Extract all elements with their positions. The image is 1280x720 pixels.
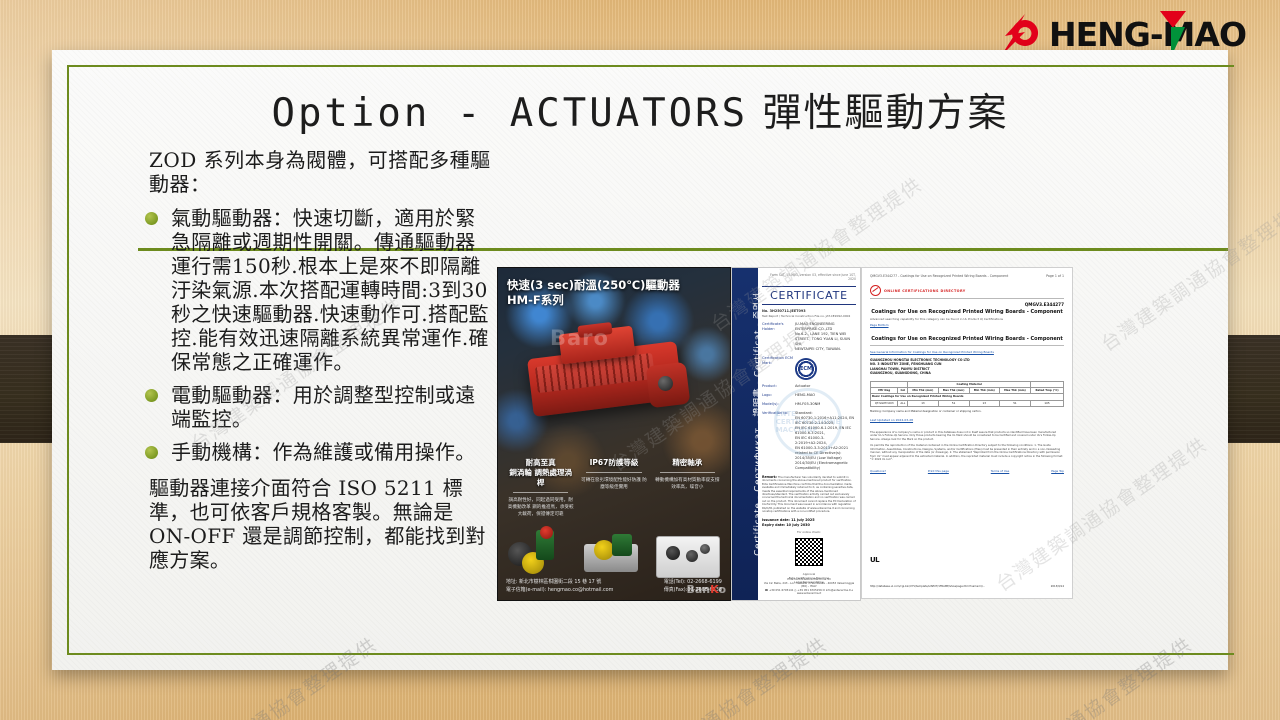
bullet-dot-icon xyxy=(145,389,158,402)
ul-terms-link[interactable]: Terms of Use xyxy=(991,469,1010,473)
logo-text: HENG-MAO xyxy=(1049,15,1246,54)
list-item: 手動機構：作為維護或備用操作。 xyxy=(141,440,493,464)
certificate-test-report-note: Test Report / Technical Construction Fil… xyxy=(762,314,856,318)
certificate-field-holder: Certificate's Holder: JU-MAO ENGINEERING… xyxy=(762,322,856,352)
title-chinese: 彈性驅動方案 xyxy=(763,91,1009,136)
feature-body: 可轉在惡劣環境配性能好防護 防塵等級佳實用 xyxy=(580,477,647,491)
ecm-certificate-document: Certificate - Сертификат - 證明書 - Certifi… xyxy=(731,267,861,601)
ul-certification-mark-icon: UL xyxy=(870,556,879,564)
ecm-seal-icon: ECM xyxy=(795,358,817,380)
bullet-list: 氣動驅動器：快速切斷，適用於緊急隔離或週期性開關。傳通驅動器運行需150秒.根本… xyxy=(141,206,493,464)
table-cell: 51 xyxy=(999,400,1030,406)
ul-directory-label: ONLINE CERTIFICATIONS DIRECTORY xyxy=(884,289,966,293)
feature-divider xyxy=(660,472,715,473)
bullet-dot-icon xyxy=(145,212,158,225)
table-cell: 13 xyxy=(969,400,999,406)
feature-divider xyxy=(586,472,641,473)
ul-source-url: http://database.ul.com/cgi-bin/XYV/templ… xyxy=(870,585,985,588)
poster-title: 快速(3 sec)耐溫(250℃)驅動器 HM-F系列 xyxy=(507,278,722,308)
green-board xyxy=(612,534,632,556)
table-cell: 51 xyxy=(938,400,969,406)
ul-print-date: 2013/9/14 xyxy=(1051,585,1064,588)
certificate-dates: Issuance date: 11 July 2025 Expiry date:… xyxy=(762,518,856,528)
feature-body: 調高耐性好，同起過同受用，耐高機動改革 鋼的推進馬，承受較大載荷，保證傳定可靠 xyxy=(507,497,574,518)
list-item-text: 手動機構：作為維護或備用操作。 xyxy=(171,440,476,464)
body-text-column: ZOD 系列本身為閥體，可搭配多種驅動器： 氣動驅動器：快速切斷，適用於緊急隔離… xyxy=(141,148,493,572)
list-item-text: 電動驅動器：用於調整型控制或遠端監控。 xyxy=(171,383,476,431)
list-item: 氣動驅動器：快速切斷，適用於緊急隔離或週期性開關。傳通驅動器運行需150秒.根本… xyxy=(141,206,493,374)
ul-certification-document: QMGV3.E344277 - Coatings for Use on Reco… xyxy=(861,267,1073,599)
list-item-text: 氣動驅動器：快速切斷，適用於緊急隔離或週期性開關。傳通驅動器運行需150秒.根本… xyxy=(171,206,489,374)
poster-title-line1: 快速(3 sec)耐溫(250℃)驅動器 xyxy=(507,278,722,293)
expiry-date: Expiry date: 10 July 2030 xyxy=(762,523,856,528)
poster-thumbnails xyxy=(506,520,722,582)
ul-disclaimer-paragraph: The appearance of a company's name or pr… xyxy=(870,431,1064,462)
table-row: QT-SILIHY-003 ALL 13 51 13 51 105 xyxy=(871,400,1064,406)
table-cell: ALL xyxy=(898,400,908,406)
field-value: ECM xyxy=(795,356,856,380)
poster-title-line2: HM-F系列 xyxy=(507,293,722,308)
ul-category-code: QMGV3.E344277 xyxy=(870,302,1064,307)
poster-watermark: Baro xyxy=(550,326,609,350)
poster-contact-address: 地址: 新北市樹林區柑園街二段 15 巷 17 號 電子信箱(e-mail): … xyxy=(506,579,613,594)
documents-row: 快速(3 sec)耐溫(250℃)驅動器 HM-F系列 Baro 耐高至真 銅渦… xyxy=(497,267,1073,601)
feature-item: IP67防護等級 可轉在惡劣環境配性能好防護 防塵等級佳實用 xyxy=(577,458,650,518)
ul-table-caption: Marking: Company name and Material desig… xyxy=(870,410,1064,414)
qr-code-icon xyxy=(795,538,823,566)
part-gear-icon xyxy=(666,546,680,560)
certificate-field-mark: Certification ECM Mark: ECM xyxy=(762,356,856,380)
field-label: Certification ECM Mark: xyxy=(762,356,795,380)
feature-heading: 銅渦輪 調熱處理渦桿 xyxy=(507,468,574,488)
table-cell: 13 xyxy=(908,400,938,406)
slide-stage: HENG-MAO Option - ACTUATORS 彈性驅動方案 ZOD 系… xyxy=(0,0,1280,720)
ul-search-note: Advanced searching capability for this c… xyxy=(870,317,1064,321)
ul-general-information-link[interactable]: See General Information for Coatings for… xyxy=(870,350,1064,354)
yellow-gear-icon xyxy=(594,540,614,560)
actuator-knob xyxy=(658,376,673,391)
ul-print-link[interactable]: Print this page xyxy=(928,469,949,473)
table-cell: 105 xyxy=(1031,400,1064,406)
list-item: 電動驅動器：用於調整型控制或遠端監控。 xyxy=(141,383,493,431)
thumbnail-parts-tray xyxy=(654,524,722,582)
field-label: Product: xyxy=(762,384,795,389)
ul-heading-secondary: Coatings for Use on Recognized Printed W… xyxy=(870,336,1064,346)
bullet-dot-icon xyxy=(145,446,158,459)
ul-questions-link[interactable]: Questions? xyxy=(870,469,886,473)
certificate-watermark-seal: ENTE CERTIFICAZIONE MACCHINE xyxy=(774,388,842,456)
title-english: Option - ACTUATORS xyxy=(271,91,748,136)
closing-paragraph: 驅動器連接介面符合 ISO 5211 標準，也可依客戶規格客製。無論是 ON-O… xyxy=(149,476,493,572)
ul-heading: Coatings for Use on Recognized Printed W… xyxy=(870,309,1064,315)
qr-label: For online check: xyxy=(762,530,856,534)
feature-heading-top: 耐高至真 xyxy=(507,458,574,468)
feature-item: 精密軸承 轉動機構加有高材質動率錠支撐 效率高，噪音小 xyxy=(651,458,724,518)
part-gear-icon xyxy=(686,550,698,562)
certificate-spine: Certificate - Сертификат - 證明書 - Certifi… xyxy=(732,268,758,600)
feature-item: 耐高至真 銅渦輪 調熱處理渦桿 調高耐性好，同起過同受用，耐高機動改革 鋼的推進… xyxy=(504,458,577,518)
ul-coating-table: Coating Material Mfr Dsg Col Min Thk (mm… xyxy=(870,381,1064,408)
feature-heading: 精密軸承 xyxy=(654,458,721,468)
ul-logo-icon xyxy=(870,285,881,296)
part-ring-icon xyxy=(700,544,710,554)
feature-heading: IP67防護等級 xyxy=(580,458,647,468)
ul-top-row: QMGV3.E344277 - Coatings for Use on Reco… xyxy=(870,274,1064,278)
remark-text: The manufacturer has voluntarily decided… xyxy=(762,476,856,513)
field-value: JU-MAO ENGINEERING ENTERPRISE CO.,LTD No… xyxy=(795,322,856,352)
ul-page-number: Page 1 of 1 xyxy=(1046,274,1064,278)
ul-last-updated-link[interactable]: Last Updated on 2024-03-28 xyxy=(870,418,1064,422)
ul-company-block: GUANGZHOU HONGTAI ELECTRONIC TECHNOLOGY … xyxy=(870,358,1064,376)
product-poster: 快速(3 sec)耐溫(250℃)驅動器 HM-F系列 Baro 耐高至真 銅渦… xyxy=(497,267,731,601)
poster-brand-mark: BanKo xyxy=(686,583,726,596)
red-cap-icon xyxy=(540,526,553,539)
ul-footer-links: Questions? Print this page Terms of Use … xyxy=(870,469,1064,473)
feature-body: 轉動機構加有高材質動率錠支撐 效率高，噪音小 xyxy=(654,477,721,491)
ul-top-left: QMGV3.E344277 - Coatings for Use on Reco… xyxy=(870,274,1008,278)
thumbnail-actuator-internals xyxy=(580,524,648,582)
certificate-heading: CERTIFICATE xyxy=(762,286,856,305)
ul-page-bottom-link[interactable]: Page Bottom xyxy=(870,323,1064,327)
certificate-remark: Remark: The manufacturer has voluntarily… xyxy=(762,476,856,513)
certificate-number: No. 3H250711.JEET093 xyxy=(762,309,856,313)
table-cell: QT-SILIHY-003 xyxy=(871,400,898,406)
poster-feature-list: 耐高至真 銅渦輪 調熱處理渦桿 調高耐性好，同起過同受用，耐高機動改革 鋼的推進… xyxy=(504,458,724,518)
logo-red-triangle-icon xyxy=(1160,11,1186,28)
certificate-footer: Ente Certificazione Macchine Srl Via Ca'… xyxy=(762,578,856,596)
ul-page-top-link[interactable]: Page Top xyxy=(1051,469,1064,473)
lead-paragraph: ZOD 系列本身為閥體，可搭配多種驅動器： xyxy=(149,148,493,196)
feature-divider xyxy=(513,492,568,493)
ul-directory-bar: ONLINE CERTIFICATIONS DIRECTORY xyxy=(870,285,1064,299)
field-label: Certificate's Holder: xyxy=(762,322,795,352)
thumbnail-gear-assembly xyxy=(506,524,574,582)
page-title: Option - ACTUATORS 彈性驅動方案 xyxy=(0,82,1280,138)
certificate-form-note: Form SAT_15-M03, version 03, effective s… xyxy=(762,273,856,281)
